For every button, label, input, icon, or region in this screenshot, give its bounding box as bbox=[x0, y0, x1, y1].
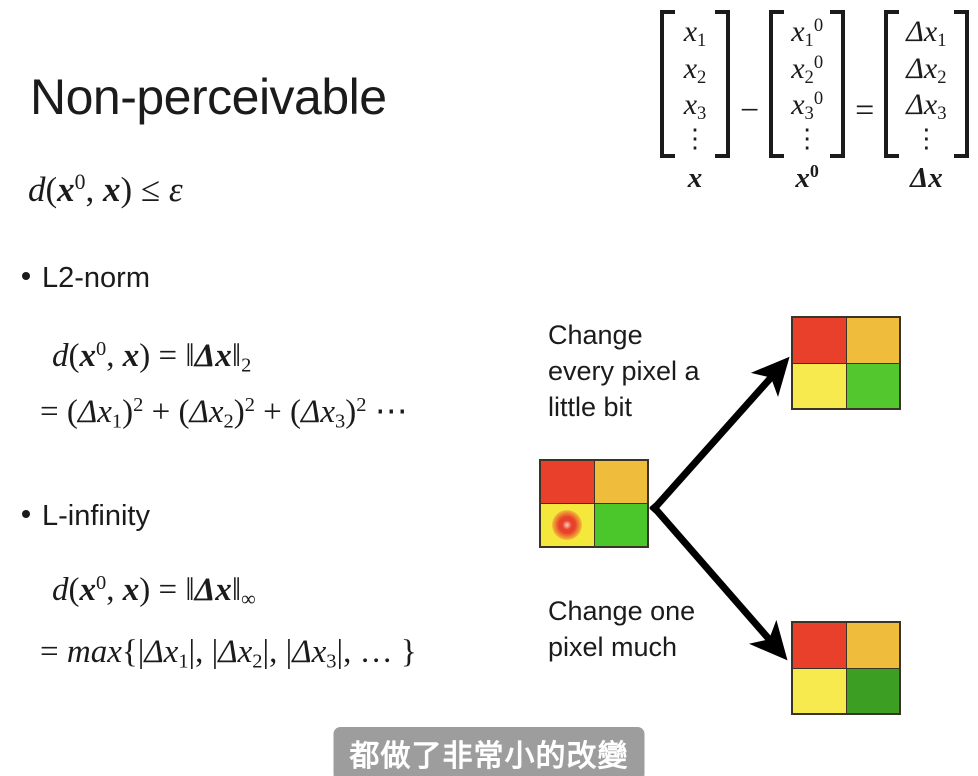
bullet-item-l-infinity: L-infinity bbox=[22, 500, 150, 533]
l2-d: d bbox=[52, 338, 69, 374]
pixel-cell-top-right bbox=[847, 318, 900, 363]
linf-term3-sub: 3 bbox=[326, 651, 336, 673]
subtitle-caption: 都做了非常小的改變 bbox=[334, 727, 645, 776]
bracket-right-icon bbox=[715, 10, 730, 158]
matrix-bracket-delta-x: Δx1 Δx2 Δx3 ⋮ bbox=[884, 10, 968, 158]
l2-term2-sup: 2 bbox=[245, 394, 255, 416]
pixel-cell-bottom-left bbox=[793, 669, 846, 714]
matrix-cell: x1 bbox=[684, 14, 707, 51]
l2-term1-delta: Δx bbox=[78, 394, 112, 430]
l-infinity-formula-line1: d(x0, x) = ‖Δx‖∞ bbox=[52, 574, 256, 607]
pixel-cell-bottom-right bbox=[595, 504, 648, 546]
linf-close-paren: ) bbox=[139, 572, 150, 608]
constraint-comma: , bbox=[86, 170, 95, 209]
linf-x0: x bbox=[80, 572, 97, 608]
bracket-left-icon bbox=[660, 10, 675, 158]
original-image-grid bbox=[539, 459, 649, 548]
matrix-term-x: x1 x2 x3 ⋮ x bbox=[660, 10, 730, 193]
matrix-cell: x3 bbox=[684, 87, 707, 124]
constraint-open-paren: ( bbox=[46, 170, 58, 209]
selected-pixel-marker-icon bbox=[552, 510, 582, 540]
linf-term1-sub: 1 bbox=[178, 651, 188, 673]
big-change-image-grid bbox=[791, 621, 901, 715]
matrix-vertical-dots: ⋮ bbox=[913, 124, 939, 156]
matrix-term-x0: x10 x20 x30 ⋮ x0 bbox=[769, 10, 845, 193]
pixel-cell-top-right bbox=[847, 623, 900, 668]
l-infinity-formula-line2: = max{|Δx1|, |Δx2|, |Δx3|, … } bbox=[40, 636, 417, 669]
matrix-bracket-x: x1 x2 x3 ⋮ bbox=[660, 10, 730, 158]
l2-delta-x: Δx bbox=[195, 338, 232, 374]
linf-comma-3: , bbox=[343, 634, 351, 670]
l2-term3-sub: 3 bbox=[335, 411, 345, 433]
linf-open-paren: ( bbox=[69, 572, 80, 608]
constraint-x0: x bbox=[57, 170, 75, 209]
page-title: Non-perceivable bbox=[30, 68, 387, 126]
linf-max-operator: max bbox=[67, 634, 122, 670]
slide-canvas: Non-perceivable d(x0, x) ≤ ε x1 x2 x3 ⋮ … bbox=[0, 0, 978, 776]
matrix-equation: x1 x2 x3 ⋮ x − x10 x20 x30 ⋮ bbox=[660, 10, 969, 193]
linf-brace-open: { bbox=[122, 634, 138, 670]
matrix-column-x0: x10 x20 x30 ⋮ bbox=[784, 10, 830, 158]
l2-comma: , bbox=[106, 338, 114, 374]
l2-term1-open: ( bbox=[67, 394, 78, 430]
bullet-dot-icon bbox=[22, 510, 30, 518]
linf-equals: = bbox=[158, 572, 177, 608]
pixel-cell-top-left bbox=[793, 623, 846, 668]
linf-term2-sub: 2 bbox=[252, 651, 262, 673]
matrix-cell: Δx3 bbox=[906, 87, 946, 124]
pixel-cell-top-right bbox=[595, 461, 648, 503]
matrix-cell: Δx2 bbox=[906, 51, 946, 88]
caption-small-change: Change every pixel a little bit bbox=[548, 318, 700, 426]
bracket-right-icon bbox=[830, 10, 845, 158]
matrix-term-delta-x: Δx1 Δx2 Δx3 ⋮ Δx bbox=[884, 10, 968, 193]
l2-term1-close: ) bbox=[122, 394, 133, 430]
linf-x: x bbox=[123, 572, 140, 608]
linf-comma: , bbox=[106, 572, 114, 608]
constraint-x0-superscript: 0 bbox=[75, 170, 86, 194]
bullet-item-l2-norm: L2-norm bbox=[22, 262, 150, 295]
bracket-left-icon bbox=[884, 10, 899, 158]
matrix-vertical-dots: ⋮ bbox=[794, 124, 820, 156]
pixel-cell-bottom-left bbox=[541, 504, 594, 546]
l2-term3-close: ) bbox=[345, 394, 356, 430]
linf-brace-close: } bbox=[401, 634, 417, 670]
pixel-cell-top-left bbox=[793, 318, 846, 363]
l2-plus-1: + bbox=[152, 394, 171, 430]
matrix-vertical-dots: ⋮ bbox=[682, 124, 708, 156]
minus-operator: − bbox=[740, 94, 759, 128]
l2-x: x bbox=[123, 338, 140, 374]
pixel-cell-bottom-right bbox=[847, 669, 900, 714]
l2-term2-delta: Δx bbox=[189, 394, 223, 430]
matrix-label-delta-x: Δx bbox=[910, 164, 943, 193]
pixel-cell-bottom-left bbox=[793, 364, 846, 409]
constraint-close-paren: ) bbox=[121, 170, 133, 209]
linf-norm-close: ‖ bbox=[232, 572, 241, 608]
pixel-cell-bottom-right bbox=[847, 364, 900, 409]
l2-close-paren: ) bbox=[139, 338, 150, 374]
matrix-cell: x30 bbox=[791, 87, 823, 124]
matrix-label-x: x bbox=[688, 164, 703, 193]
l2-term2-close: ) bbox=[234, 394, 245, 430]
constraint-x: x bbox=[103, 170, 121, 209]
constraint-relation: ≤ bbox=[141, 170, 160, 209]
linf-delta-x: Δx bbox=[195, 572, 232, 608]
matrix-cell: x20 bbox=[791, 51, 823, 88]
l2-norm-subscript: 2 bbox=[241, 355, 251, 377]
linf-term2-delta: Δx bbox=[218, 634, 252, 670]
l2-plus-2: + bbox=[263, 394, 282, 430]
l2-term3-delta: Δx bbox=[301, 394, 335, 430]
l2-x0-superscript: 0 bbox=[96, 338, 106, 360]
linf-comma-2: , bbox=[269, 634, 277, 670]
l2-ellipsis: ⋯ bbox=[375, 394, 408, 430]
small-change-image-grid bbox=[791, 316, 901, 410]
linf-norm-subscript: ∞ bbox=[241, 589, 256, 611]
l2-norm-formula-line1: d(x0, x) = ‖Δx‖2 bbox=[52, 340, 251, 373]
l2-norm-open: ‖ bbox=[185, 338, 194, 374]
bullet-label-l2-norm: L2-norm bbox=[42, 262, 150, 295]
l2-term3-open: ( bbox=[290, 394, 301, 430]
equals-operator: = bbox=[855, 94, 874, 128]
l2-norm-formula-line2: = (Δx1)2 + (Δx2)2 + (Δx3)2 ⋯ bbox=[40, 396, 408, 429]
constraint-d: d bbox=[28, 170, 46, 209]
bullet-label-l-infinity: L-infinity bbox=[42, 500, 150, 533]
linf-term1-delta: Δx bbox=[144, 634, 178, 670]
l2-term1-sub: 1 bbox=[112, 411, 122, 433]
matrix-cell: Δx1 bbox=[906, 14, 946, 51]
l2-term1-sup: 2 bbox=[133, 394, 143, 416]
l2-term2-sub: 2 bbox=[223, 411, 233, 433]
l2-open-paren: ( bbox=[69, 338, 80, 374]
matrix-column-delta-x: Δx1 Δx2 Δx3 ⋮ bbox=[899, 10, 953, 158]
matrix-label-x0: x0 bbox=[795, 164, 818, 193]
bracket-right-icon bbox=[954, 10, 969, 158]
bracket-left-icon bbox=[769, 10, 784, 158]
l2-norm-close: ‖ bbox=[232, 338, 241, 374]
matrix-bracket-x0: x10 x20 x30 ⋮ bbox=[769, 10, 845, 158]
linf-line2-equals: = bbox=[40, 634, 59, 670]
linf-comma-1: , bbox=[195, 634, 203, 670]
linf-term3-delta: Δx bbox=[292, 634, 326, 670]
linf-x0-superscript: 0 bbox=[96, 572, 106, 594]
pixel-cell-top-left bbox=[541, 461, 594, 503]
matrix-cell: x2 bbox=[684, 51, 707, 88]
linf-d: d bbox=[52, 572, 69, 608]
l2-term2-open: ( bbox=[178, 394, 189, 430]
l2-x0: x bbox=[80, 338, 97, 374]
bullet-dot-icon bbox=[22, 272, 30, 280]
linf-norm-open: ‖ bbox=[185, 572, 194, 608]
distance-constraint-formula: d(x0, x) ≤ ε bbox=[28, 172, 183, 207]
matrix-cell: x10 bbox=[791, 14, 823, 51]
l2-equals: = bbox=[158, 338, 177, 374]
l2-term3-sup: 2 bbox=[356, 394, 366, 416]
matrix-column-x: x1 x2 x3 ⋮ bbox=[675, 10, 715, 158]
constraint-epsilon: ε bbox=[169, 170, 183, 209]
l2-line2-equals: = bbox=[40, 394, 59, 430]
caption-big-change: Change one pixel much bbox=[548, 594, 695, 666]
linf-ellipsis: … bbox=[360, 634, 393, 670]
